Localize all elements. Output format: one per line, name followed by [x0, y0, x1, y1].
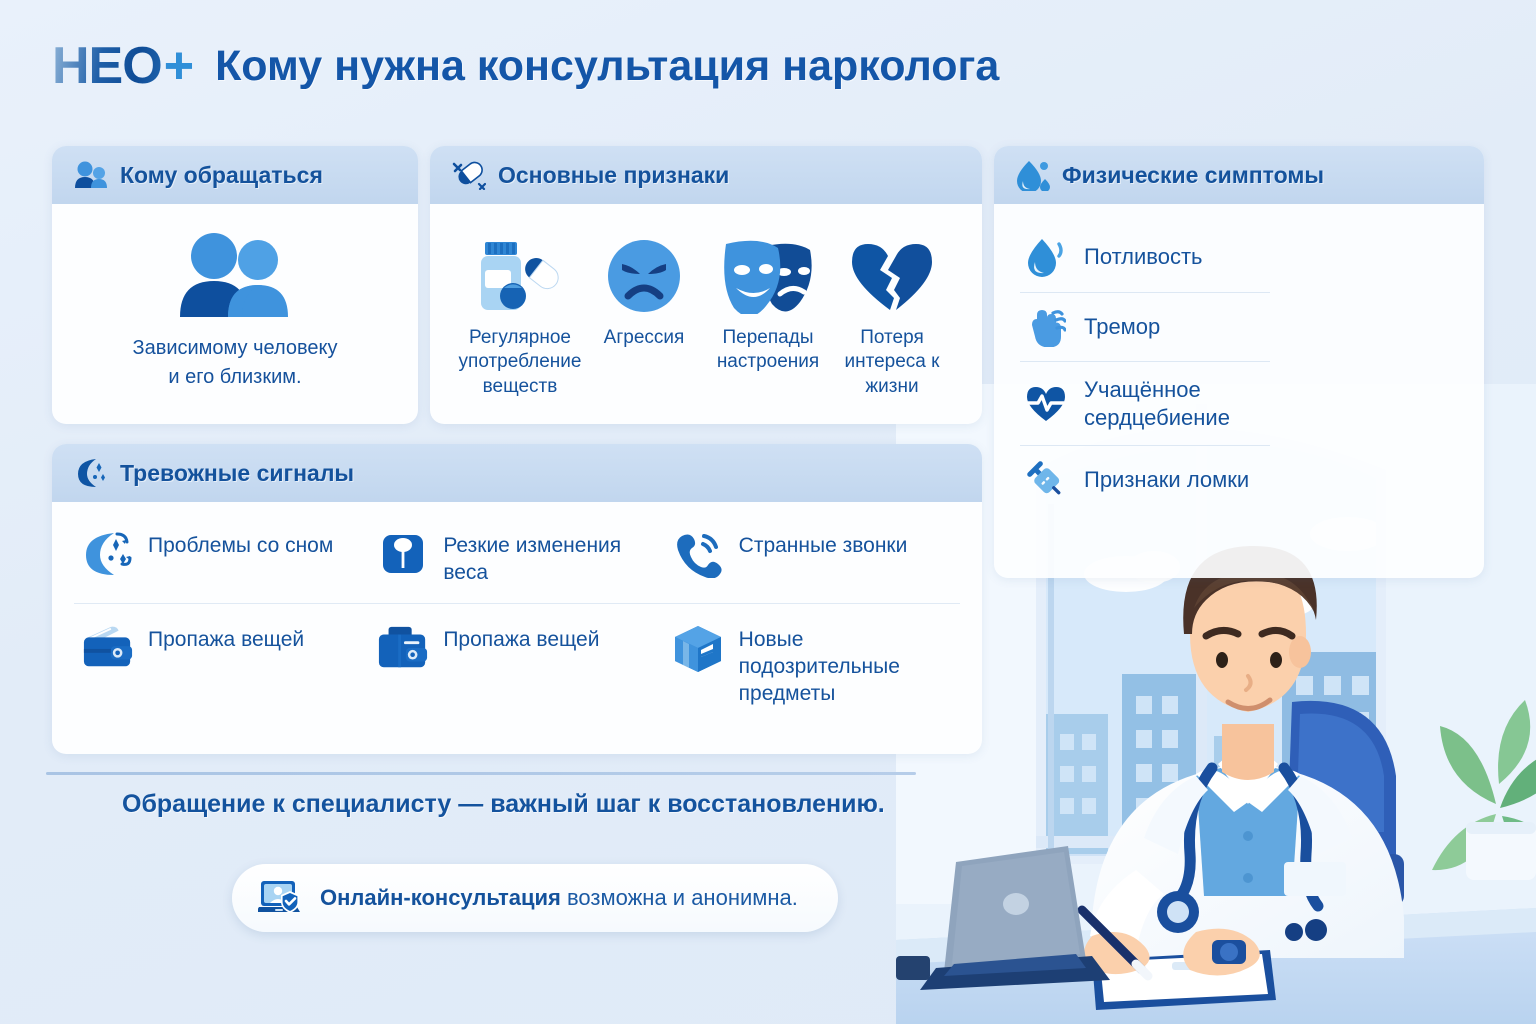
broken-heart-icon	[848, 236, 936, 314]
alarm-label: Новые подозрительные предметы	[739, 622, 950, 708]
badge-bold-text: Онлайн-консультация	[320, 885, 561, 910]
laptop-verified-icon	[258, 879, 304, 917]
package-box-icon	[673, 622, 725, 674]
card-who-to-contact: Кому обращаться Зависимому человеку и ег…	[52, 146, 418, 424]
card-physical-symptoms: Физические симптомы Потливость	[994, 146, 1484, 578]
syringe-icon	[1024, 460, 1068, 500]
water-drop-icon	[1016, 159, 1050, 191]
alarm-item: Резкие изменения веса	[369, 510, 664, 604]
wallet-open-icon	[82, 622, 134, 672]
heart-pulse-icon	[1024, 385, 1068, 423]
footer-divider	[46, 772, 916, 775]
angry-face-icon	[606, 236, 682, 314]
alarm-item: Пропажа вещей	[369, 604, 664, 724]
two-people-icon	[74, 161, 108, 189]
card-signs-title: Основные признаки	[498, 162, 729, 189]
alarm-label: Пропажа вещей	[148, 622, 304, 653]
sign-item: Регулярное употребление веществ	[458, 236, 582, 399]
sign-item: Агрессия	[582, 236, 706, 399]
alarm-row-2: Пропажа вещей Проп	[74, 604, 960, 724]
sweat-drop-icon	[1024, 236, 1068, 278]
online-consultation-text: Онлайн-консультация возможна и анонимна.	[320, 885, 798, 911]
moon-sleep-icon	[82, 528, 134, 578]
card-alarm-title: Тревожные сигналы	[120, 460, 354, 487]
card-who-body: Зависимому человеку и его близким.	[52, 204, 418, 410]
footer-statement: Обращение к специалисту — важный шаг к в…	[122, 790, 885, 819]
card-who-title: Кому обращаться	[120, 162, 323, 189]
list-item: Учащённое сердцебиение	[1020, 362, 1270, 446]
sign-label: Перепады настроения	[706, 326, 830, 375]
list-item-label: Потливость	[1084, 243, 1203, 271]
list-item-label: Тремор	[1084, 313, 1160, 341]
card-physical-title: Физические симптомы	[1062, 162, 1324, 189]
card-main-signs: Основные признаки	[430, 146, 982, 424]
alarm-label: Пропажа вещей	[443, 622, 599, 653]
trembling-hand-icon	[1024, 307, 1068, 347]
alarm-row-1: Проблемы со сном Резкие изменения веса	[74, 510, 960, 604]
moon-stars-icon	[74, 457, 108, 489]
phone-ringing-icon	[673, 528, 725, 578]
page-title: Кому нужна консультация нарколога	[215, 42, 999, 91]
card-who-text: Зависимому человеку и его близким.	[133, 334, 338, 392]
card-alarm-header: Тревожные сигналы	[52, 444, 982, 502]
wallet-closed-icon	[377, 622, 429, 672]
pill-capsule-icon	[452, 160, 486, 190]
list-item: Тремор	[1020, 293, 1270, 362]
badge-rest-text: возможна и анонимна.	[561, 885, 798, 910]
pill-bottle-icon	[473, 236, 567, 314]
brand-logo-plus-icon: +	[164, 36, 193, 96]
sign-label: Потеря интереса к жизни	[830, 326, 954, 399]
sign-item: Потеря интереса к жизни	[830, 236, 954, 399]
card-alarm-body: Проблемы со сном Резкие изменения веса	[52, 502, 982, 733]
list-item: Потливость	[1020, 222, 1270, 293]
sign-item: Перепады настроения	[706, 236, 830, 399]
page-header: HEO + Кому нужна консультация нарколога	[52, 36, 999, 96]
alarm-label: Резкие изменения веса	[443, 528, 654, 587]
list-item: Признаки ломки	[1020, 446, 1270, 514]
brand-logo-text: HEO	[52, 36, 162, 96]
alarm-label: Проблемы со сном	[148, 528, 333, 559]
card-alarm-signals: Тревожные сигналы	[52, 444, 982, 754]
card-signs-header: Основные признаки	[430, 146, 982, 204]
alarm-label: Странные звонки	[739, 528, 908, 559]
sign-label: Агрессия	[604, 326, 685, 350]
alarm-item: Проблемы со сном	[74, 510, 369, 604]
list-item-label: Признаки ломки	[1084, 466, 1249, 494]
card-signs-body: Регулярное употребление веществ Агрессия	[430, 204, 982, 417]
card-physical-body: Потливость Тремор	[994, 204, 1484, 526]
two-people-large-icon	[176, 232, 294, 318]
weight-scale-icon	[377, 528, 429, 578]
card-who-header: Кому обращаться	[52, 146, 418, 204]
alarm-item: Пропажа вещей	[74, 604, 369, 724]
infographic-canvas: HEO + Кому нужна консультация нарколога …	[0, 0, 1536, 1024]
theater-masks-icon	[716, 236, 820, 314]
sign-label: Регулярное употребление веществ	[458, 326, 582, 399]
alarm-item: Странные звонки	[665, 510, 960, 604]
brand-logo: HEO +	[52, 36, 193, 96]
card-physical-header: Физические симптомы	[994, 146, 1484, 204]
online-consultation-badge: Онлайн-консультация возможна и анонимна.	[232, 864, 838, 932]
list-item-label: Учащённое сердцебиение	[1084, 376, 1266, 431]
alarm-item: Новые подозрительные предметы	[665, 604, 960, 724]
